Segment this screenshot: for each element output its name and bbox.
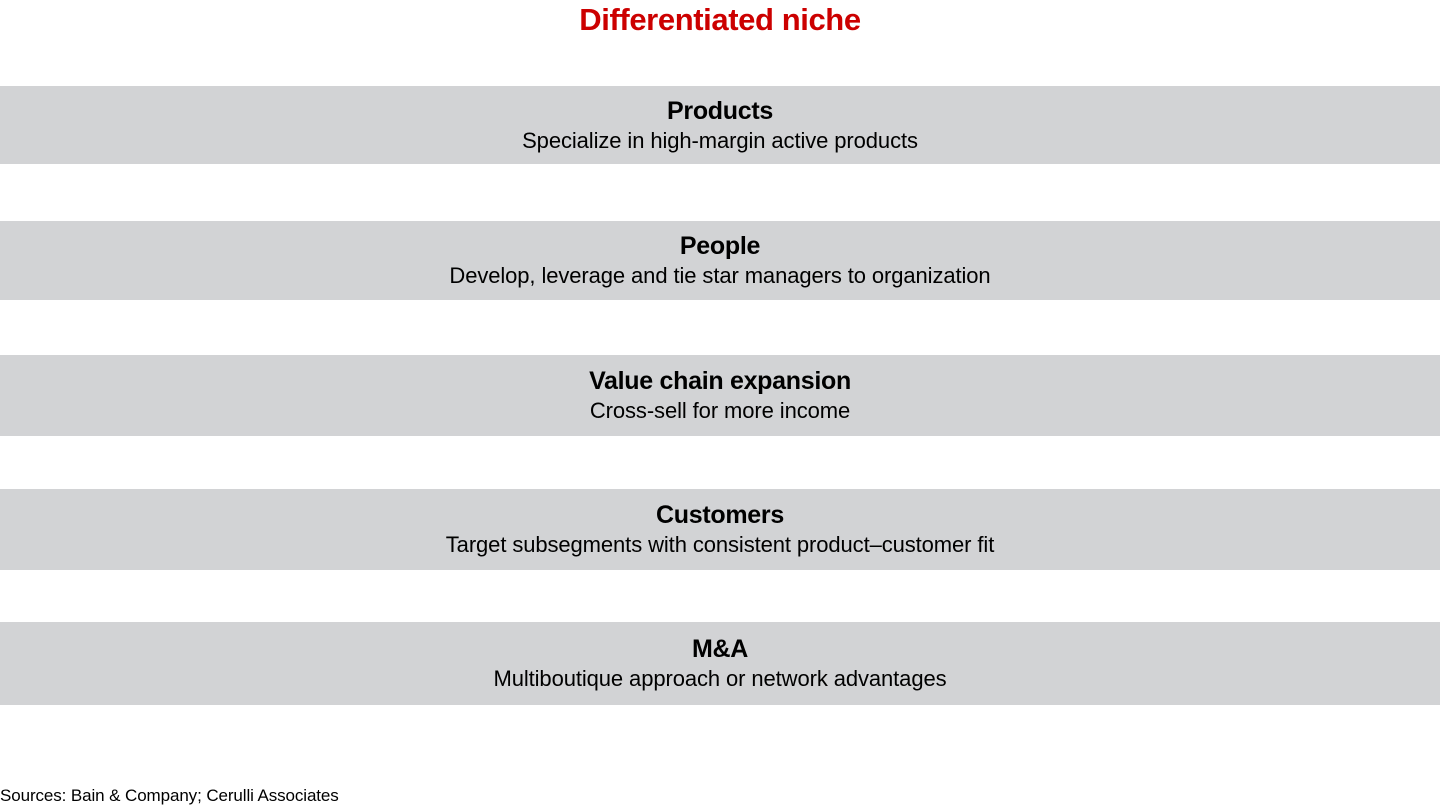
lever-subtitle: Target subsegments with consistent produ…: [446, 531, 994, 559]
lever-bar-customers: Customers Target subsegments with consis…: [0, 489, 1440, 570]
source-note: Sources: Bain & Company; Cerulli Associa…: [0, 786, 339, 806]
lever-subtitle: Specialize in high-margin active product…: [522, 127, 918, 155]
lever-subtitle: Multiboutique approach or network advant…: [493, 665, 946, 693]
lever-subtitle: Cross-sell for more income: [590, 397, 850, 425]
lever-heading: Products: [667, 96, 773, 126]
lever-bar-m-and-a: M&A Multiboutique approach or network ad…: [0, 622, 1440, 705]
exhibit-canvas: Differentiated niche Products Specialize…: [0, 0, 1440, 810]
lever-heading: M&A: [692, 634, 748, 664]
page-title: Differentiated niche: [0, 0, 1440, 40]
lever-bar-value-chain-expansion: Value chain expansion Cross-sell for mor…: [0, 355, 1440, 436]
lever-bar-people: People Develop, leverage and tie star ma…: [0, 221, 1440, 300]
lever-bar-products: Products Specialize in high-margin activ…: [0, 86, 1440, 164]
lever-subtitle: Develop, leverage and tie star managers …: [449, 262, 990, 290]
lever-heading: People: [680, 231, 760, 261]
lever-heading: Value chain expansion: [589, 366, 851, 396]
lever-heading: Customers: [656, 500, 784, 530]
